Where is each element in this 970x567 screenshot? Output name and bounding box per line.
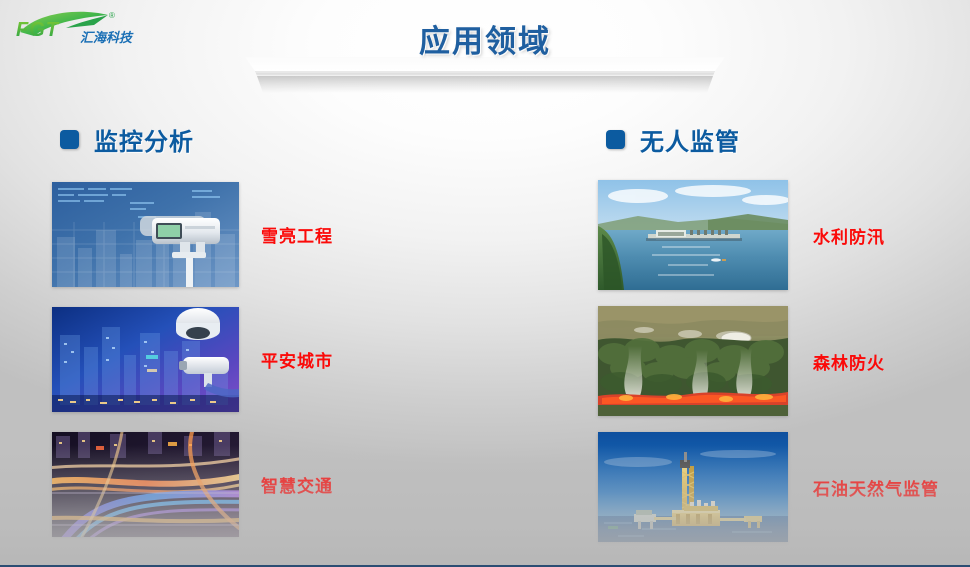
item-label: 平安城市 <box>261 347 333 372</box>
slide-application-domains: FGT ® 汇海科技 应用领域 <box>0 0 970 567</box>
item-label: 森林防火 <box>813 349 885 374</box>
list-item[interactable]: 森林防火 <box>598 298 970 424</box>
night-city-cameras-image <box>52 307 239 412</box>
forest-fire-image <box>598 306 788 416</box>
shelf-decoration <box>245 57 725 93</box>
item-list-monitoring: 雪亮工程 <box>52 172 472 547</box>
list-item[interactable]: 雪亮工程 <box>52 172 472 297</box>
item-label: 智慧交通 <box>261 472 333 497</box>
item-list-supervision: 水利防汛 <box>598 172 970 550</box>
list-item[interactable]: 石油天然气监管 <box>598 424 970 550</box>
offshore-oil-platform-image <box>598 432 788 542</box>
list-item[interactable]: 智慧交通 <box>52 422 472 547</box>
list-item[interactable]: 水利防汛 <box>598 172 970 298</box>
cctv-camera-skyline-image <box>52 182 239 287</box>
list-item[interactable]: 平安城市 <box>52 297 472 422</box>
square-bullet-icon <box>606 130 625 149</box>
item-label: 雪亮工程 <box>261 222 333 247</box>
item-label: 石油天然气监管 <box>813 475 939 500</box>
section-header-supervision: 无人监管 <box>606 118 970 160</box>
section-monitoring-analysis: 监控分析 <box>52 118 472 547</box>
page-title: 应用领域 <box>0 16 970 61</box>
square-bullet-icon <box>60 130 79 149</box>
reservoir-dam-image <box>598 180 788 290</box>
night-traffic-interchange-image <box>52 432 239 537</box>
section-unmanned-supervision: 无人监管 <box>598 118 970 550</box>
section-title-supervision: 无人监管 <box>640 122 740 157</box>
item-label: 水利防汛 <box>813 223 885 248</box>
section-header-monitoring: 监控分析 <box>60 118 472 160</box>
section-title-monitoring: 监控分析 <box>94 122 194 157</box>
